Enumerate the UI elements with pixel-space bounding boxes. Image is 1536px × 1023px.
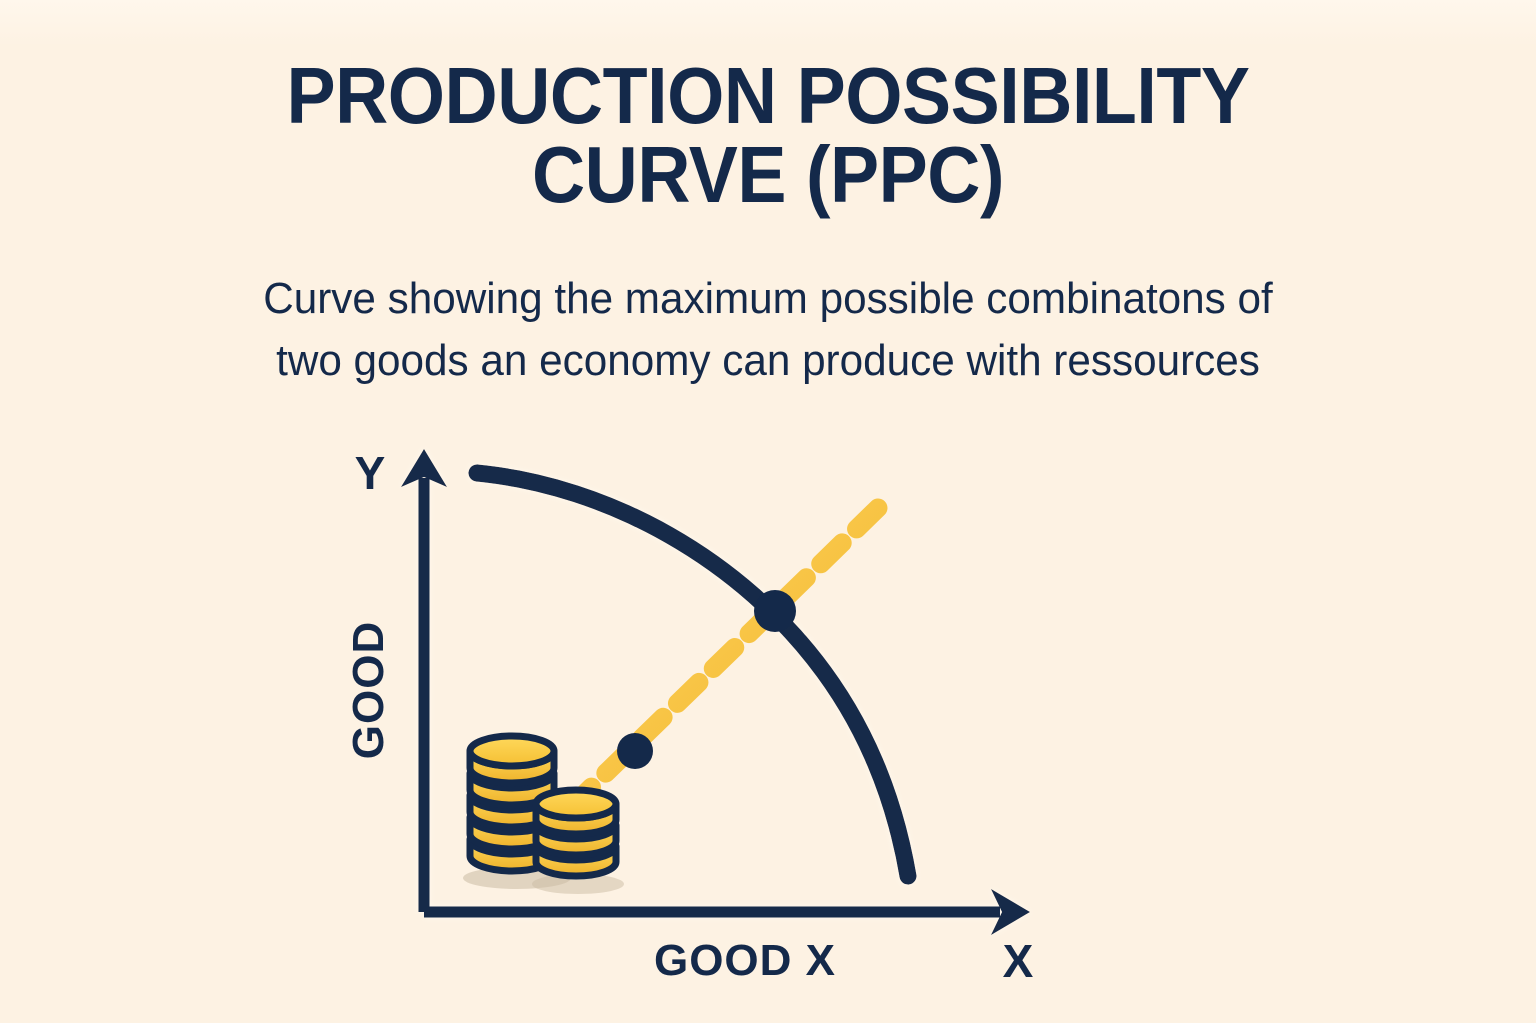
ppc-infographic: PRODUCTION POSSIBILITY CURVE (PPC) Curve… [0,0,1536,1023]
x-axis-letter: X [1003,935,1034,987]
y-axis-title: GOOD [344,621,393,759]
x-axis-title: GOOD X [654,936,836,985]
dashed-ray [570,508,878,808]
chart-area: Y X GOOD X GOOD [0,0,1536,1023]
coin-stack-illustration [463,736,624,894]
coin-stack-short [536,790,616,876]
ppc-chart-svg: Y X GOOD X GOOD [0,0,1536,1023]
efficient-point[interactable] [754,590,796,632]
inefficient-point[interactable] [617,733,653,769]
dashed-ray-line [570,508,878,808]
y-axis-letter: Y [355,447,386,499]
